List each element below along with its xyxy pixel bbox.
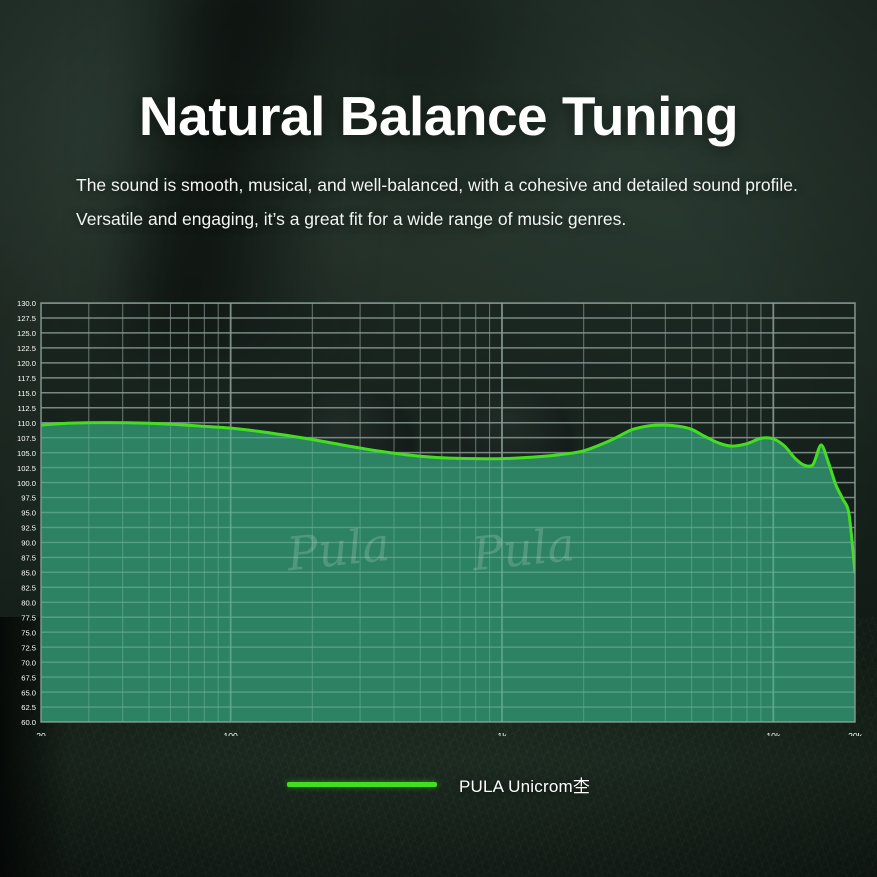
svg-text:120.0: 120.0	[17, 359, 36, 368]
svg-text:77.5: 77.5	[21, 613, 36, 622]
svg-text:105.0: 105.0	[17, 449, 36, 458]
svg-text:100.0: 100.0	[17, 479, 36, 488]
frequency-response-plot: PulaPula 60.062.565.067.570.072.575.077.…	[0, 296, 877, 736]
svg-text:20k: 20k	[848, 731, 863, 736]
svg-text:75.0: 75.0	[21, 628, 36, 637]
svg-text:60.0: 60.0	[21, 718, 36, 727]
svg-text:95.0: 95.0	[21, 509, 36, 518]
svg-text:Pula: Pula	[468, 517, 577, 582]
svg-text:90.0: 90.0	[21, 539, 36, 548]
legend-color-swatch	[287, 782, 437, 787]
svg-text:112.5: 112.5	[18, 404, 36, 413]
svg-text:82.5: 82.5	[21, 584, 36, 593]
svg-text:67.5: 67.5	[21, 673, 36, 682]
svg-text:72.5: 72.5	[21, 643, 36, 652]
svg-text:10k: 10k	[766, 731, 781, 736]
svg-text:125.0: 125.0	[17, 329, 36, 338]
chart-legend: PULA Unicrom杢	[0, 772, 877, 797]
svg-text:92.5: 92.5	[21, 524, 36, 533]
svg-text:127.5: 127.5	[17, 314, 36, 323]
svg-text:87.5: 87.5	[21, 554, 36, 563]
svg-text:62.5: 62.5	[21, 703, 36, 712]
svg-text:115.0: 115.0	[18, 389, 36, 398]
svg-text:85.0: 85.0	[21, 569, 36, 578]
svg-text:110.0: 110.0	[18, 419, 36, 428]
legend-label: PULA Unicrom杢	[459, 772, 590, 797]
frequency-response-chart: PulaPula 60.062.565.067.570.072.575.077.…	[0, 296, 877, 736]
y-axis-tick-labels: 60.062.565.067.570.072.575.077.580.082.5…	[17, 299, 36, 727]
svg-text:102.5: 102.5	[17, 464, 36, 473]
svg-text:1k: 1k	[497, 731, 507, 736]
svg-text:100: 100	[223, 731, 238, 736]
x-axis-tick-labels: 201001k10k20k	[36, 731, 862, 736]
page-subtitle: The sound is smooth, musical, and well-b…	[76, 168, 806, 236]
svg-text:70.0: 70.0	[21, 658, 36, 667]
svg-text:97.5: 97.5	[21, 494, 36, 503]
svg-text:80.0: 80.0	[21, 598, 36, 607]
svg-text:20: 20	[36, 731, 46, 736]
svg-text:65.0: 65.0	[21, 688, 36, 697]
svg-text:107.5: 107.5	[17, 434, 36, 443]
svg-text:117.5: 117.5	[18, 374, 36, 383]
svg-text:130.0: 130.0	[17, 299, 36, 308]
svg-text:Pula: Pula	[283, 517, 392, 582]
svg-text:122.5: 122.5	[17, 344, 36, 353]
page-title: Natural Balance Tuning	[0, 84, 877, 148]
